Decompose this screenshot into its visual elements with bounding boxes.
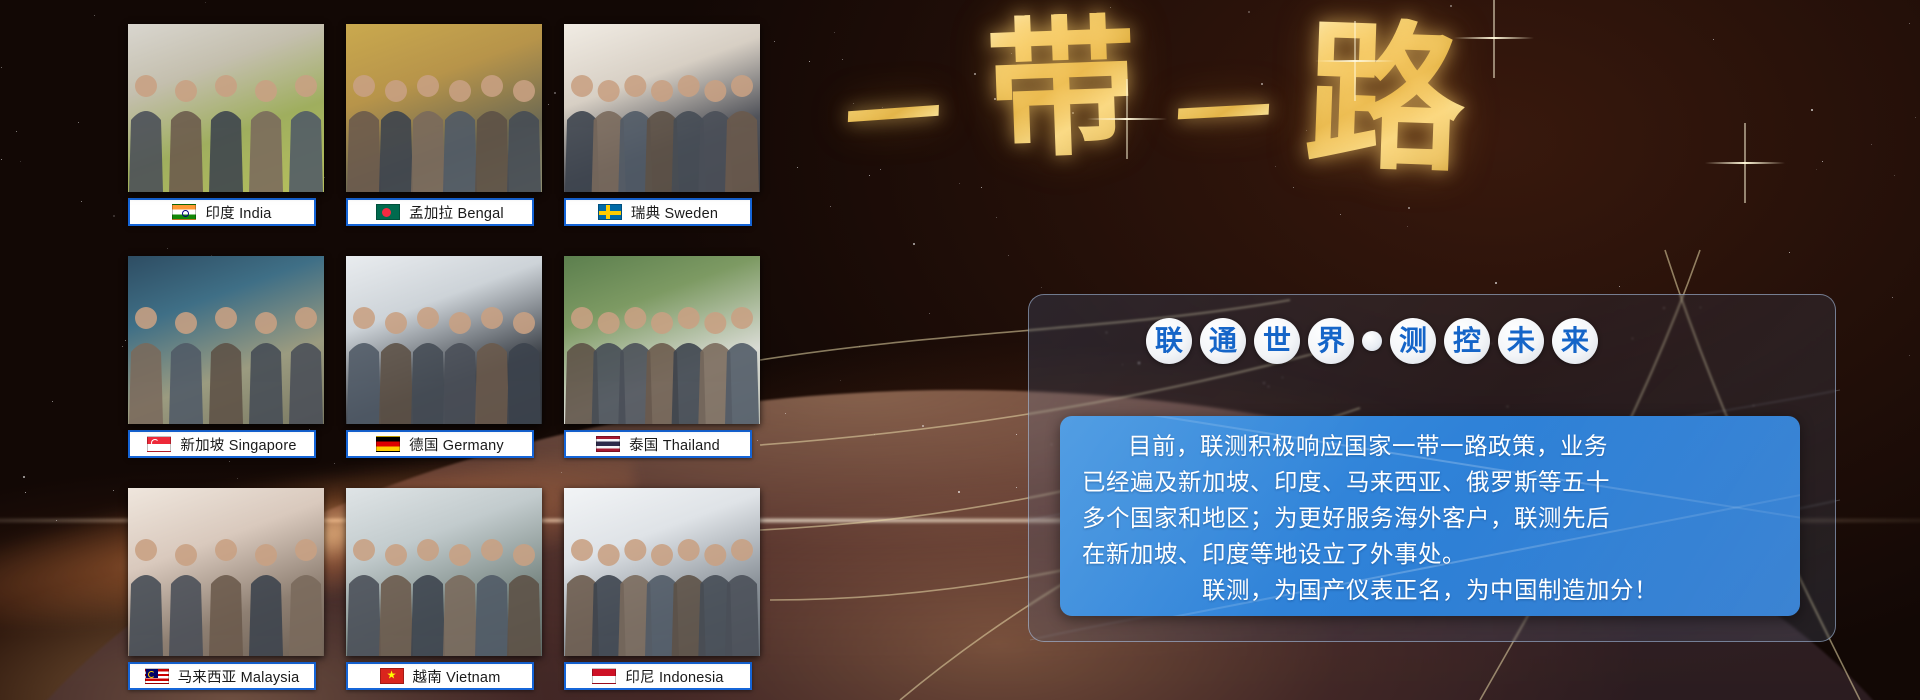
flag-india-icon [172,204,196,220]
country-photo[interactable] [346,256,542,424]
country-label: 印度 India [205,202,271,223]
country-label: 瑞典 Sweden [631,202,718,223]
slogan-badge: 界 [1308,318,1354,364]
country-card[interactable]: 瑞典 Sweden [564,24,760,228]
people-group-icon [128,488,324,656]
slogan-badge: 来 [1552,318,1598,364]
sparkle-icon [1126,118,1128,120]
flag-singapore-icon [147,436,171,452]
country-card[interactable]: 越南 Vietnam [346,488,542,692]
country-card[interactable]: 印尼 Indonesia [564,488,760,692]
description-line: 联测，为国产仪表正名，为中国制造加分！ [1082,572,1778,608]
description-line: 多个国家和地区；为更好服务海外客户，联测先后 [1082,500,1778,536]
country-photo[interactable] [564,256,760,424]
country-label: 马来西亚 Malaysia [178,666,300,687]
banner-stage: 印度 India孟加拉 Bengal瑞典 Sweden新加坡 Singapore… [0,0,1920,700]
slogan-separator-dot-icon [1362,331,1382,351]
flag-bangladesh-icon [376,204,400,220]
country-photo[interactable] [564,24,760,192]
country-card[interactable]: 马来西亚 Malaysia [128,488,324,692]
country-caption: 泰国 Thailand [564,430,752,458]
photo-image [564,488,760,656]
flag-indonesia-icon [592,668,616,684]
slogan-badge: 测 [1390,318,1436,364]
country-photo[interactable] [128,256,324,424]
photo-image [564,24,760,192]
description-line: 在新加坡、印度等地设立了外事处。 [1082,536,1778,572]
country-label: 泰国 Thailand [629,434,720,455]
flag-vietnam-icon [380,668,404,684]
country-caption: 越南 Vietnam [346,662,534,690]
country-card[interactable]: 德国 Germany [346,256,542,460]
description-line: 目前，联测积极响应国家一带一路政策，业务 [1082,428,1778,464]
calligraphy-char-4: 路 [1302,15,1468,180]
country-caption: 孟加拉 Bengal [346,198,534,226]
country-card[interactable]: 新加坡 Singapore [128,256,324,460]
description-line: 已经遍及新加坡、印度、马来西亚、俄罗斯等五十 [1082,464,1778,500]
country-photo[interactable] [128,24,324,192]
country-label: 越南 Vietnam [413,666,501,687]
country-photo[interactable] [128,488,324,656]
flag-germany-icon [376,436,400,452]
description-box: 目前，联测积极响应国家一带一路政策，业务已经遍及新加坡、印度、马来西亚、俄罗斯等… [1060,416,1800,616]
calligraphy-char-3: 一 [1173,65,1274,166]
flag-sweden-icon [598,204,622,220]
people-group-icon [564,256,760,424]
slogan-row: 联通世界测控未来 [1146,318,1598,364]
photo-image [346,488,542,656]
country-caption: 印度 India [128,198,316,226]
country-caption: 印尼 Indonesia [564,662,752,690]
people-group-icon [346,24,542,192]
slogan-badge: 联 [1146,318,1192,364]
slogan-badge: 通 [1200,318,1246,364]
sparkle-icon [1744,162,1746,164]
country-caption: 德国 Germany [346,430,534,458]
slogan-badge: 未 [1498,318,1544,364]
country-caption: 新加坡 Singapore [128,430,316,458]
people-group-icon [564,488,760,656]
people-group-icon [346,256,542,424]
country-photo[interactable] [346,24,542,192]
photo-image [128,256,324,424]
calligraphy-char-1: 一 [843,66,942,169]
flag-malaysia-icon [145,668,169,684]
country-photo[interactable] [564,488,760,656]
country-label: 孟加拉 Bengal [409,202,504,223]
photo-image [346,256,542,424]
country-label: 德国 Germany [409,434,504,455]
photo-image [128,488,324,656]
slogan-badge: 控 [1444,318,1490,364]
people-group-icon [346,488,542,656]
sparkle-icon [1493,37,1495,39]
slogan-badge: 世 [1254,318,1300,364]
calligraphy-char-2: 带 [984,11,1139,166]
people-group-icon [564,24,760,192]
country-card[interactable]: 印度 India [128,24,324,228]
country-caption: 马来西亚 Malaysia [128,662,316,690]
country-label: 新加坡 Singapore [180,434,296,455]
people-group-icon [128,256,324,424]
country-photo-grid: 印度 India孟加拉 Bengal瑞典 Sweden新加坡 Singapore… [128,24,768,684]
sparkle-icon [1354,60,1356,62]
photo-image [128,24,324,192]
country-card[interactable]: 泰国 Thailand [564,256,760,460]
country-card[interactable]: 孟加拉 Bengal [346,24,542,228]
country-caption: 瑞典 Sweden [564,198,752,226]
calligraphy-headline: 一 带 一 路 [835,8,1525,208]
country-label: 印尼 Indonesia [625,666,723,687]
photo-image [346,24,542,192]
flag-thailand-icon [596,436,620,452]
people-group-icon [128,24,324,192]
photo-image [564,256,760,424]
country-photo[interactable] [346,488,542,656]
